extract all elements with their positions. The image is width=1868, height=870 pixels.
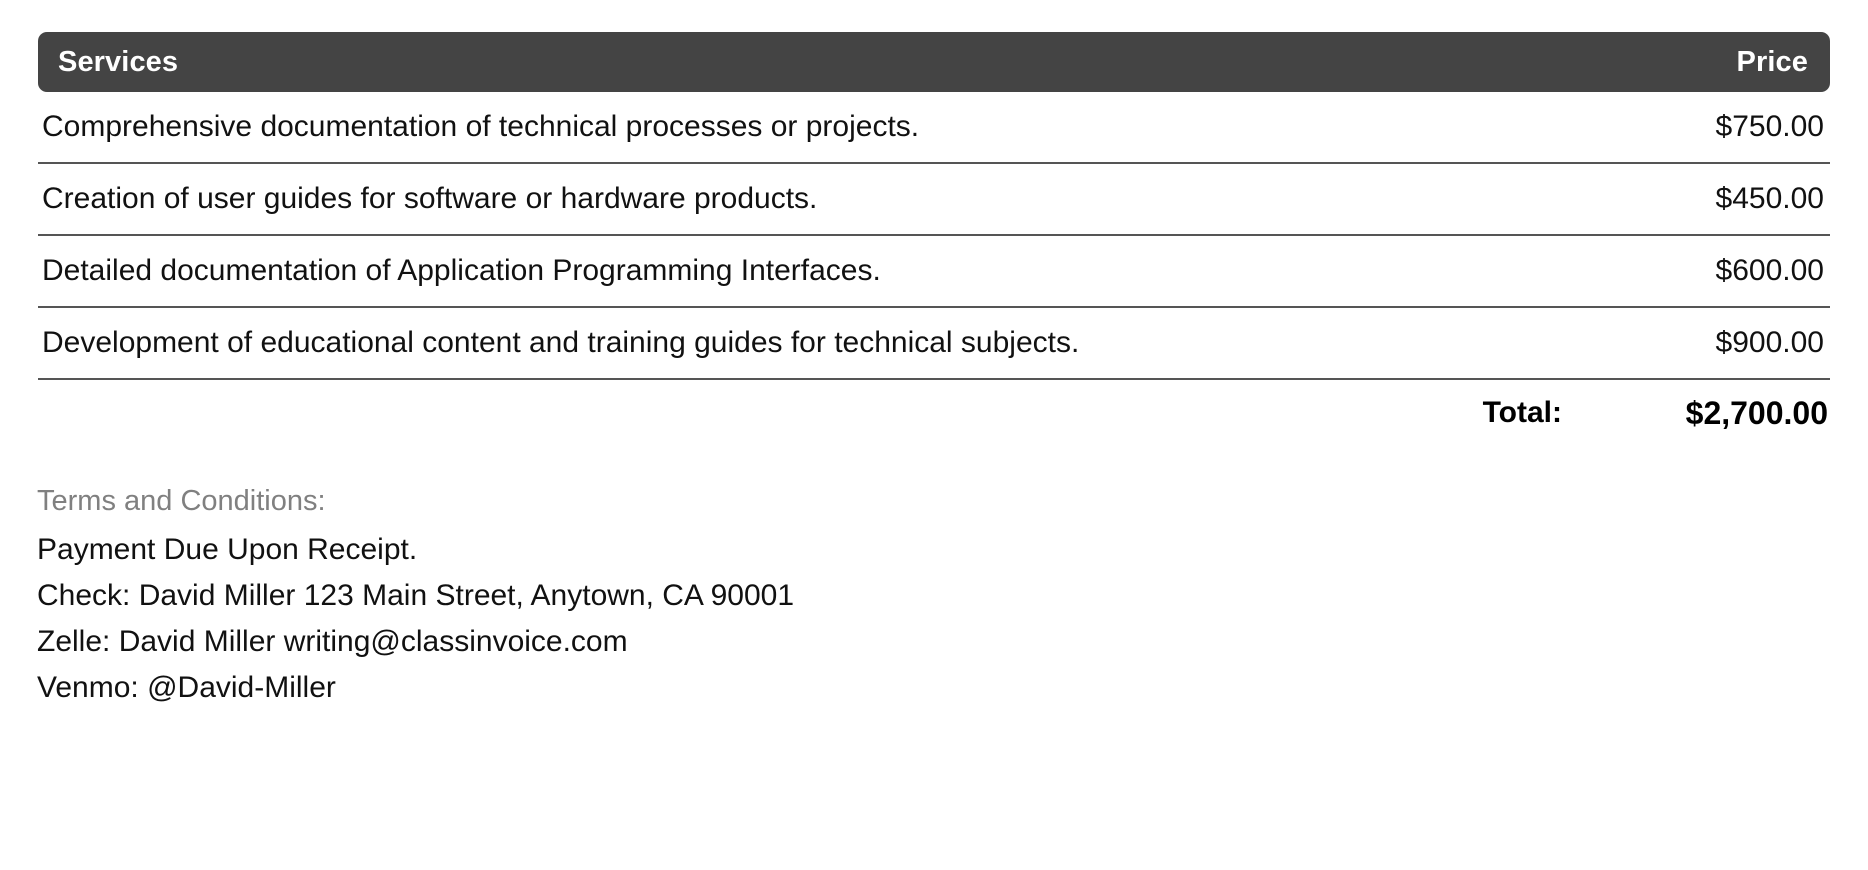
- table-row: Creation of user guides for software or …: [38, 164, 1830, 236]
- invoice-page: Services Price Comprehensive documentati…: [0, 0, 1868, 870]
- terms-heading: Terms and Conditions:: [37, 487, 1637, 516]
- service-description: Creation of user guides for software or …: [42, 182, 817, 217]
- terms-line-check: Check: David Miller 123 Main Street, Any…: [37, 581, 1637, 611]
- total-value: $2,700.00: [1628, 395, 1828, 432]
- table-header-row: Services Price: [38, 32, 1830, 92]
- service-description: Detailed documentation of Application Pr…: [42, 254, 881, 289]
- terms-line-zelle: Zelle: David Miller writing@classinvoice…: [37, 627, 1637, 657]
- terms-line-payment: Payment Due Upon Receipt.: [37, 535, 1637, 565]
- service-price: $750.00: [1716, 110, 1826, 144]
- table-row: Comprehensive documentation of technical…: [38, 92, 1830, 164]
- services-price-table: Services Price Comprehensive documentati…: [38, 32, 1830, 446]
- service-price: $450.00: [1716, 182, 1826, 216]
- table-row: Detailed documentation of Application Pr…: [38, 236, 1830, 308]
- total-row: Total: $2,700.00: [38, 380, 1830, 446]
- column-header-services: Services: [58, 48, 178, 77]
- column-header-price: Price: [1737, 48, 1808, 77]
- table-row: Development of educational content and t…: [38, 308, 1830, 380]
- total-label: Total:: [1483, 396, 1562, 430]
- service-price: $900.00: [1716, 326, 1826, 360]
- table-body: Comprehensive documentation of technical…: [38, 92, 1830, 446]
- service-description: Development of educational content and t…: [42, 326, 1079, 361]
- service-description: Comprehensive documentation of technical…: [42, 110, 919, 145]
- terms-and-conditions-section: Terms and Conditions: Payment Due Upon R…: [37, 487, 1637, 703]
- service-price: $600.00: [1716, 254, 1826, 288]
- terms-line-venmo: Venmo: @David-Miller: [37, 673, 1637, 703]
